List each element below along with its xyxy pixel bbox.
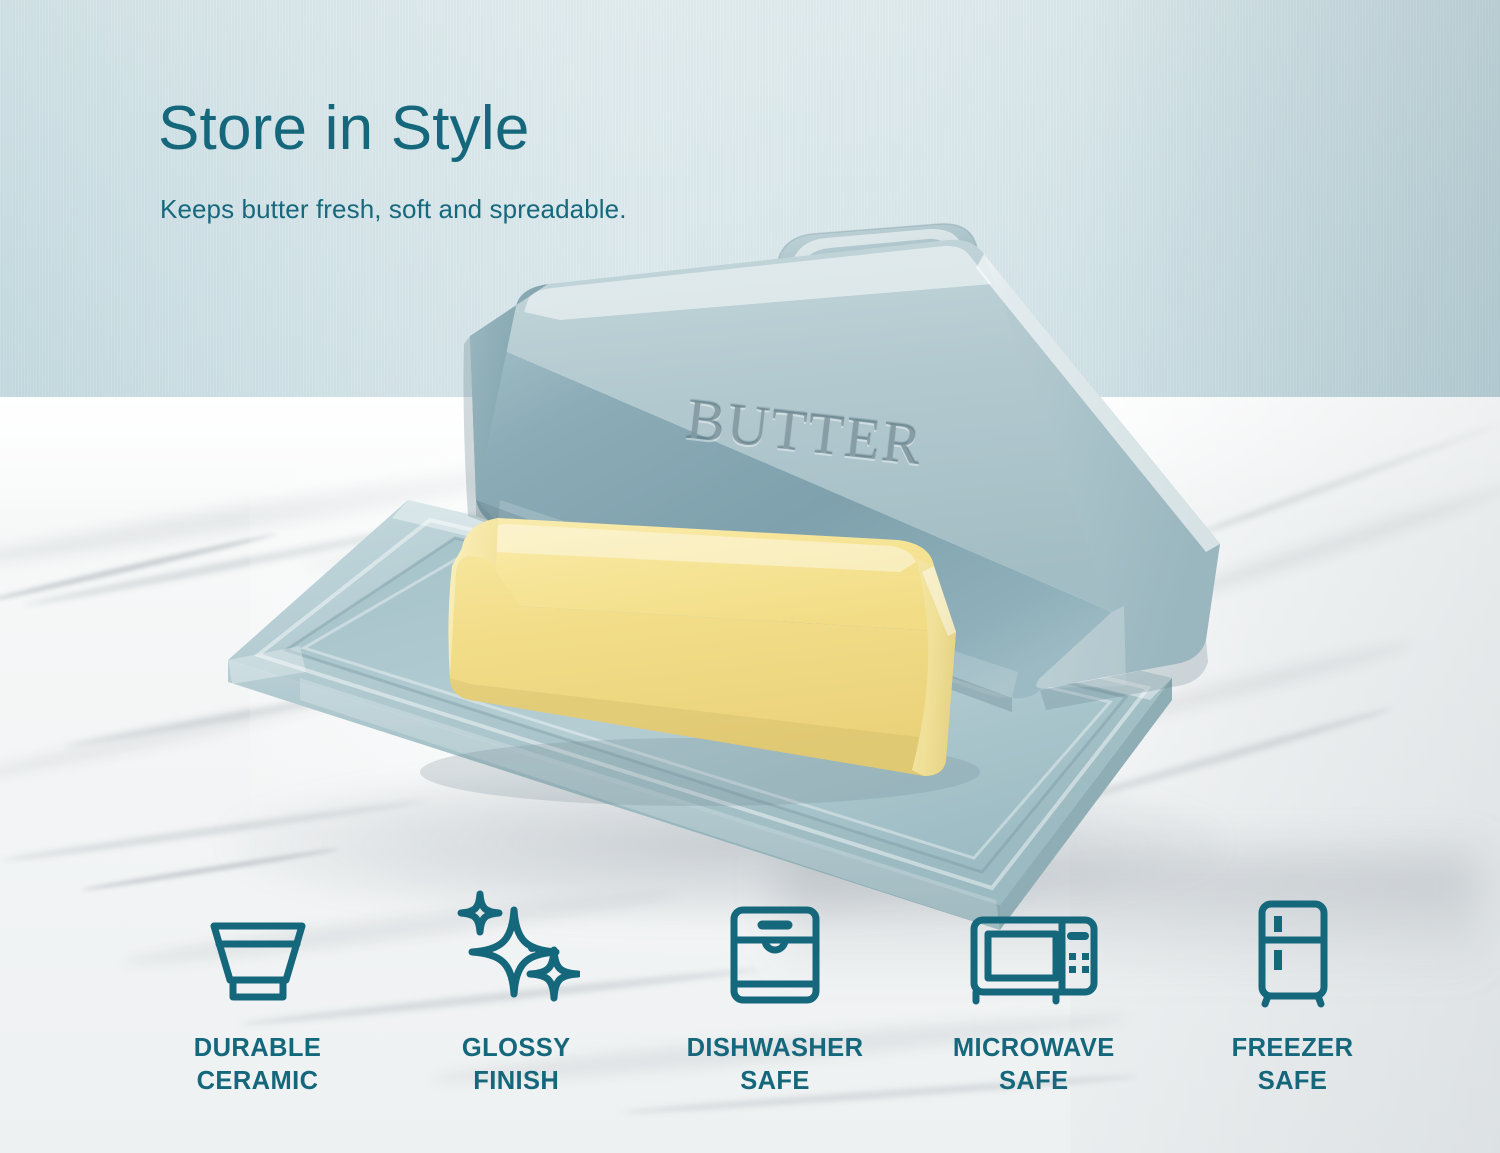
feature-label-line1: FREEZER — [1232, 1032, 1354, 1065]
feature-label: GLOSSY FINISH — [462, 1032, 571, 1098]
feature-label-line2: SAFE — [687, 1065, 864, 1098]
feature-label: DISHWASHER SAFE — [687, 1032, 864, 1098]
feature-item-glossy-finish: GLOSSY FINISH — [409, 898, 624, 1098]
feature-item-dishwasher-safe: DISHWASHER SAFE — [668, 898, 883, 1098]
sparkle-icon — [452, 898, 580, 1008]
dishwasher-icon — [724, 898, 826, 1008]
page-title: Store in Style — [158, 96, 530, 161]
product-lifestyle-image: Store in Style Keeps butter fresh, soft … — [0, 0, 1500, 1153]
feature-item-microwave-safe: MICROWAVE SAFE — [926, 898, 1141, 1098]
feature-label-line1: MICROWAVE — [953, 1032, 1115, 1065]
feature-label-line1: DURABLE — [194, 1032, 321, 1065]
freezer-icon — [1250, 898, 1336, 1008]
feature-label: DURABLE CERAMIC — [194, 1032, 321, 1098]
feature-item-durable-ceramic: DURABLE CERAMIC — [150, 898, 365, 1098]
feature-label: MICROWAVE SAFE — [953, 1032, 1115, 1098]
bowl-icon — [198, 898, 318, 1008]
feature-label-line1: DISHWASHER — [687, 1032, 864, 1065]
feature-label-line2: CERAMIC — [194, 1065, 321, 1098]
feature-label-line1: GLOSSY — [462, 1032, 571, 1065]
feature-label-line2: FINISH — [462, 1065, 571, 1098]
feature-item-freezer-safe: FREEZER SAFE — [1185, 898, 1400, 1098]
feature-label-line2: SAFE — [953, 1065, 1115, 1098]
wall-corner-shadow — [1080, 0, 1500, 400]
feature-label: FREEZER SAFE — [1232, 1032, 1354, 1098]
page-subtitle: Keeps butter fresh, soft and spreadable. — [160, 194, 627, 225]
feature-label-line2: SAFE — [1232, 1065, 1354, 1098]
microwave-icon — [966, 898, 1102, 1008]
feature-row: DURABLE CERAMIC — [150, 898, 1400, 1128]
